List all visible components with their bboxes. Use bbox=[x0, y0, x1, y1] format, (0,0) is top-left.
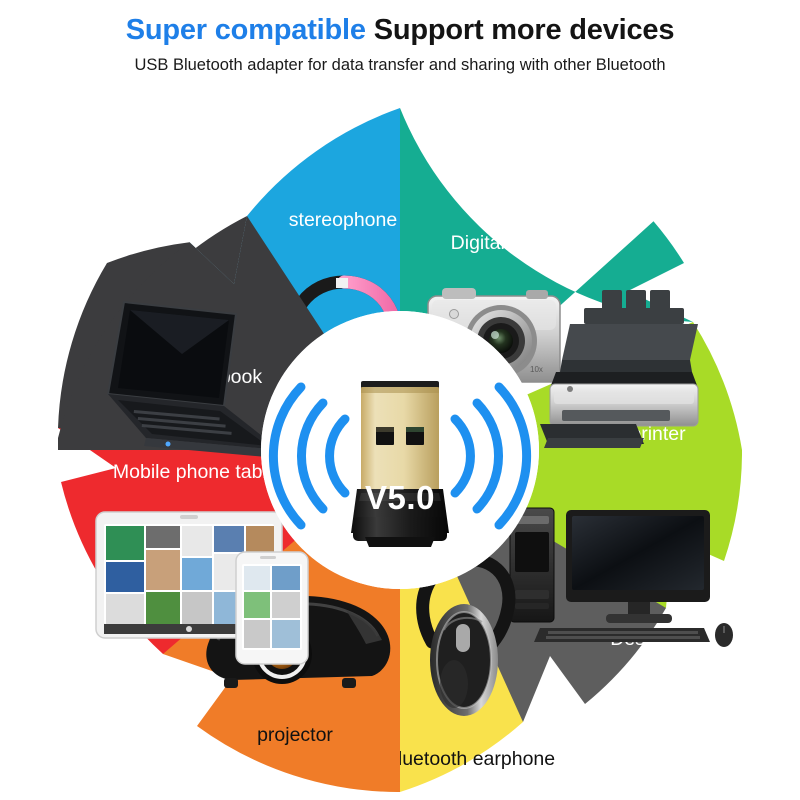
header: Super compatible Support more devices US… bbox=[0, 0, 800, 75]
segment-label-stereophone: stereophone bbox=[289, 209, 397, 231]
page-subtitle: USB Bluetooth adapter for data transfer … bbox=[0, 56, 800, 75]
page-title-rest: Support more devices bbox=[366, 14, 674, 46]
dongle-illustration bbox=[351, 381, 449, 547]
page-title: Super compatible Support more devices bbox=[0, 14, 800, 47]
segment-label-projector: projector bbox=[257, 724, 333, 746]
segment-label-digital-camera: Digital camera bbox=[451, 232, 576, 254]
signal-waves-right bbox=[455, 387, 527, 525]
printer-icon bbox=[540, 290, 698, 448]
usb-bluetooth-dongle bbox=[261, 311, 539, 589]
segment-label-bluetooth-earphone: Bluetooth earphone bbox=[385, 748, 555, 770]
compatibility-wheel: stereophone Digital came bbox=[58, 108, 742, 792]
product-hub: V5.0 bbox=[261, 311, 539, 589]
page-title-accent: Super compatible bbox=[126, 14, 366, 46]
signal-waves-left bbox=[273, 387, 345, 525]
segment-label-mobile-phone-tablet: Mobile phone tablet bbox=[113, 461, 284, 483]
